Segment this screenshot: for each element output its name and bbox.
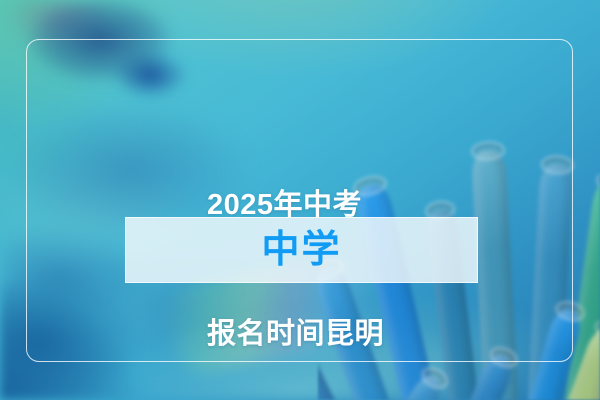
keyword-pill-label: 中学	[261, 231, 341, 269]
promo-banner: 2025年中考 报名时间昆明 中学	[0, 0, 600, 400]
headline-line-2: 报名时间昆明	[207, 313, 384, 356]
banner-content: 2025年中考 报名时间昆明 中学	[0, 0, 600, 400]
keyword-pill[interactable]: 中学	[125, 217, 478, 283]
